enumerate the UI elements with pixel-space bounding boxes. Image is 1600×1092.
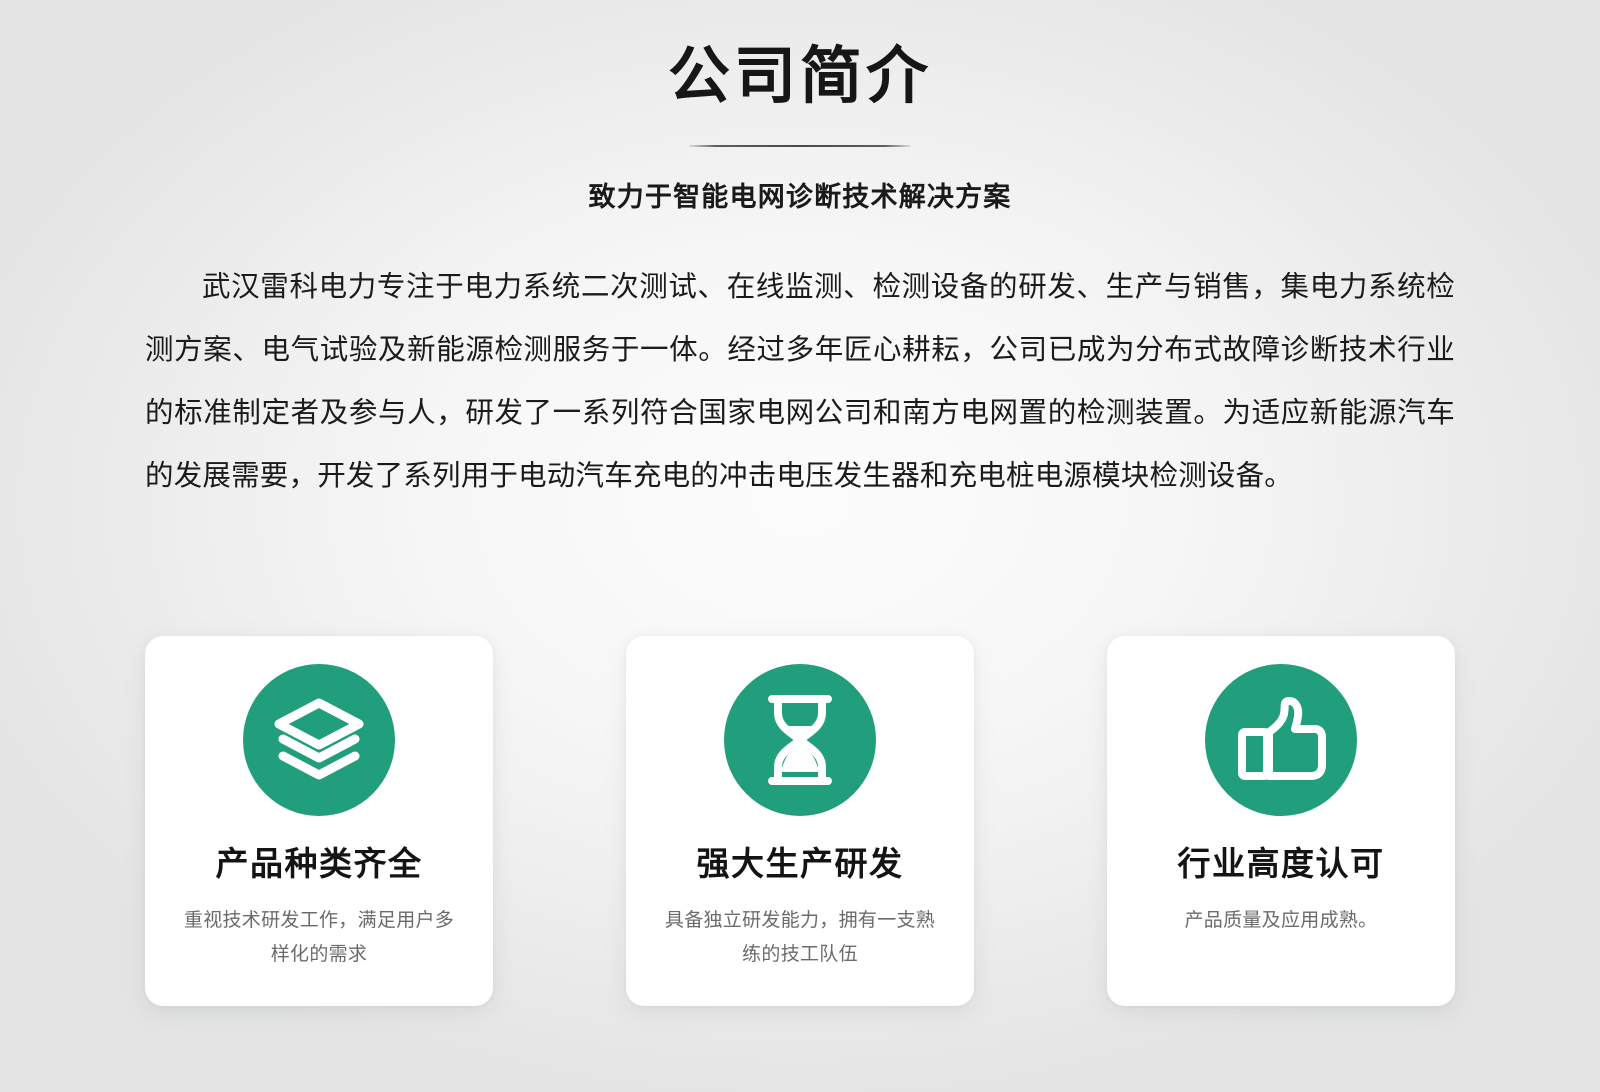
layers-icon	[243, 664, 395, 816]
section-header: 公司简介 致力于智能电网诊断技术解决方案	[0, 0, 1600, 214]
thumbs-up-icon	[1205, 664, 1357, 816]
feature-card-list: 产品种类齐全 重视技术研发工作，满足用户多样化的需求 强大生产研发 具备独立	[0, 636, 1600, 1006]
feature-card-description: 产品质量及应用成熟。	[1142, 904, 1420, 938]
feature-card-description: 重视技术研发工作，满足用户多样化的需求	[180, 904, 458, 972]
hourglass-icon	[724, 664, 876, 816]
page-subtitle: 致力于智能电网诊断技术解决方案	[0, 175, 1600, 214]
feature-card[interactable]: 强大生产研发 具备独立研发能力，拥有一支熟练的技工队伍	[626, 636, 974, 1006]
feature-card-title: 行业高度认可	[1178, 844, 1385, 884]
page-title: 公司简介	[0, 44, 1600, 111]
feature-card[interactable]: 产品种类齐全 重视技术研发工作，满足用户多样化的需求	[145, 636, 493, 1006]
feature-card-title: 产品种类齐全	[216, 844, 423, 884]
feature-card-title: 强大生产研发	[697, 844, 904, 884]
company-profile-page: 公司简介 致力于智能电网诊断技术解决方案 武汉雷科电力专注于电力系统二次测试、在…	[0, 0, 1600, 1092]
feature-card[interactable]: 行业高度认可 产品质量及应用成熟。	[1107, 636, 1455, 1006]
feature-card-description: 具备独立研发能力，拥有一支熟练的技工队伍	[661, 904, 939, 972]
company-intro-paragraph: 武汉雷科电力专注于电力系统二次测试、在线监测、检测设备的研发、生产与销售，集电力…	[145, 256, 1455, 508]
title-divider-icon	[689, 145, 911, 147]
